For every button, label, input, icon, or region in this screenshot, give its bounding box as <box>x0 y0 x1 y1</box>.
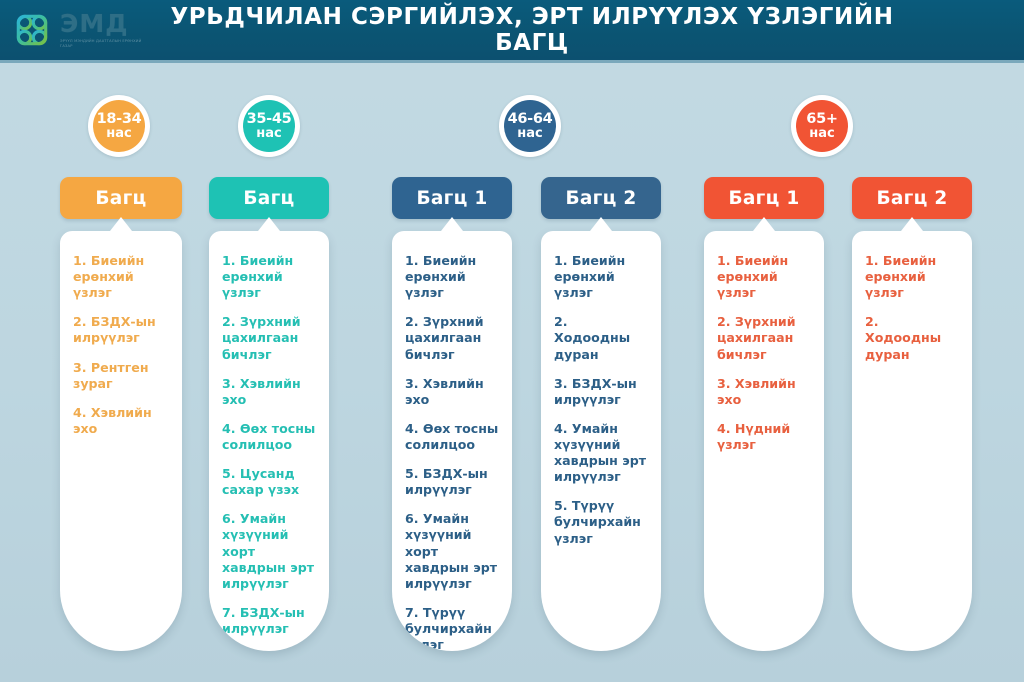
age-group-badge: 65+нас <box>791 95 853 157</box>
package-card: 1. Биеийн ерөнхий үзлэг2. Зүрхний цахилг… <box>704 231 824 651</box>
service-list-item: 4. Нүдний үзлэг <box>717 421 811 453</box>
service-list-item: 2. БЗДХ-ын илрүүлэг <box>73 314 169 346</box>
tab-pointer-arrow-icon <box>753 217 775 231</box>
logo-wordmark: ЭМД <box>60 11 146 36</box>
logo: ЭМД ЭРҮҮЛ МЭНДИЙН ДААТГАЛЫН ЕРӨНХИЙ ГАЗА… <box>10 8 160 52</box>
service-list-item: 2. Зүрхний цахилгаан бичлэг <box>717 314 811 362</box>
service-list-item: 5. Түрүү булчирхайн үзлэг <box>554 498 648 546</box>
service-list-item: 4. Өөх тосны солилцоо <box>405 421 499 453</box>
service-list-item: 3. БЗДХ-ын илрүүлэг <box>554 376 648 408</box>
age-range-label: 46-64 <box>508 112 553 127</box>
tab-pointer-arrow-icon <box>258 217 280 231</box>
package-card: 1. Биеийн ерөнхий үзлэг2. Ходоодны дуран <box>852 231 972 651</box>
service-list-item: 1. Биеийн ерөнхий үзлэг <box>73 253 169 301</box>
age-badge-inner: 18-34нас <box>93 100 145 152</box>
age-group-badge: 35-45нас <box>238 95 300 157</box>
tab-pointer-arrow-icon <box>590 217 612 231</box>
service-list-item: 1. Биеийн ерөнхий үзлэг <box>222 253 316 301</box>
service-list-item: 3. Хэвлийн эхо <box>222 376 316 408</box>
service-list-item: 2. Ходоодны дуран <box>865 314 959 362</box>
package-card: 1. Биеийн ерөнхий үзлэг2. БЗДХ-ын илрүүл… <box>60 231 182 651</box>
service-list-item: 5. Цусанд сахар үзэх <box>222 466 316 498</box>
service-list-item: 1. Биеийн ерөнхий үзлэг <box>865 253 959 301</box>
page-title: УРЬДЧИЛАН СЭРГИЙЛЭХ, ЭРТ ИЛРҮҮЛЭХ ҮЗЛЭГИ… <box>160 4 1024 56</box>
logo-subtitle: ЭРҮҮЛ МЭНДИЙН ДААТГАЛЫН ЕРӨНХИЙ ГАЗАР <box>60 39 146 50</box>
service-list-item: 2. Зүрхний цахилгаан бичлэг <box>222 314 316 362</box>
package-card: 1. Биеийн ерөнхий үзлэг2. Ходоодны дуран… <box>541 231 661 651</box>
service-list-item: 6. Умайн хүзүүний хорт хавдрын эрт илрүү… <box>405 511 499 592</box>
logo-text: ЭМД ЭРҮҮЛ МЭНДИЙН ДААТГАЛЫН ЕРӨНХИЙ ГАЗА… <box>60 11 146 50</box>
package-tab[interactable]: Багц <box>209 177 329 219</box>
service-list-item: 7. БЗДХ-ын илрүүлэг <box>222 605 316 637</box>
celtic-knot-logo-icon <box>10 8 54 52</box>
package-card: 1. Биеийн ерөнхий үзлэг2. Зүрхний цахилг… <box>209 231 329 651</box>
age-range-label: 35-45 <box>247 112 292 127</box>
service-list-item: 1. Биеийн ерөнхий үзлэг <box>405 253 499 301</box>
header-divider <box>0 60 1024 63</box>
package-card: 1. Биеийн ерөнхий үзлэг2. Зүрхний цахилг… <box>392 231 512 651</box>
service-list-item: 4. Өөх тосны солилцоо <box>222 421 316 453</box>
age-unit-label: нас <box>517 127 542 141</box>
service-list-item: 1. Биеийн ерөнхий үзлэг <box>717 253 811 301</box>
service-list-item: 2. Ходоодны дуран <box>554 314 648 362</box>
service-list-item: 4. Умайн хүзүүний хавдрын эрт илрүүлэг <box>554 421 648 485</box>
service-list-item: 3. Хэвлийн эхо <box>717 376 811 408</box>
age-range-label: 65+ <box>806 112 837 127</box>
package-tab[interactable]: Багц 2 <box>541 177 661 219</box>
service-list-item: 2. Зүрхний цахилгаан бичлэг <box>405 314 499 362</box>
service-list-item: 7. Түрүү булчирхайн үзлэг <box>405 605 499 651</box>
service-list-item: 5. БЗДХ-ын илрүүлэг <box>405 466 499 498</box>
package-tab[interactable]: Багц 2 <box>852 177 972 219</box>
age-badge-inner: 35-45нас <box>243 100 295 152</box>
service-list-item: 1. Биеийн ерөнхий үзлэг <box>554 253 648 301</box>
age-range-label: 18-34 <box>97 112 142 127</box>
infographic-page: ЭМД ЭРҮҮЛ МЭНДИЙН ДААТГАЛЫН ЕРӨНХИЙ ГАЗА… <box>0 0 1024 682</box>
package-tab[interactable]: Багц 1 <box>704 177 824 219</box>
page-header: ЭМД ЭРҮҮЛ МЭНДИЙН ДААТГАЛЫН ЕРӨНХИЙ ГАЗА… <box>0 0 1024 60</box>
tab-pointer-arrow-icon <box>901 217 923 231</box>
age-unit-label: нас <box>256 127 281 141</box>
age-unit-label: нас <box>106 127 131 141</box>
age-badge-inner: 46-64нас <box>504 100 556 152</box>
tab-pointer-arrow-icon <box>441 217 463 231</box>
package-tab[interactable]: Багц 1 <box>392 177 512 219</box>
package-tab[interactable]: Багц <box>60 177 182 219</box>
age-unit-label: нас <box>809 127 834 141</box>
tab-pointer-arrow-icon <box>110 217 132 231</box>
age-badge-inner: 65+нас <box>796 100 848 152</box>
age-group-badge: 46-64нас <box>499 95 561 157</box>
service-list-item: 3. Хэвлийн эхо <box>405 376 499 408</box>
age-group-badge: 18-34нас <box>88 95 150 157</box>
service-list-item: 3. Рентген зураг <box>73 360 169 392</box>
service-list-item: 4. Хэвлийн эхо <box>73 405 169 437</box>
service-list-item: 6. Умайн хүзүүний хорт хавдрын эрт илрүү… <box>222 511 316 592</box>
